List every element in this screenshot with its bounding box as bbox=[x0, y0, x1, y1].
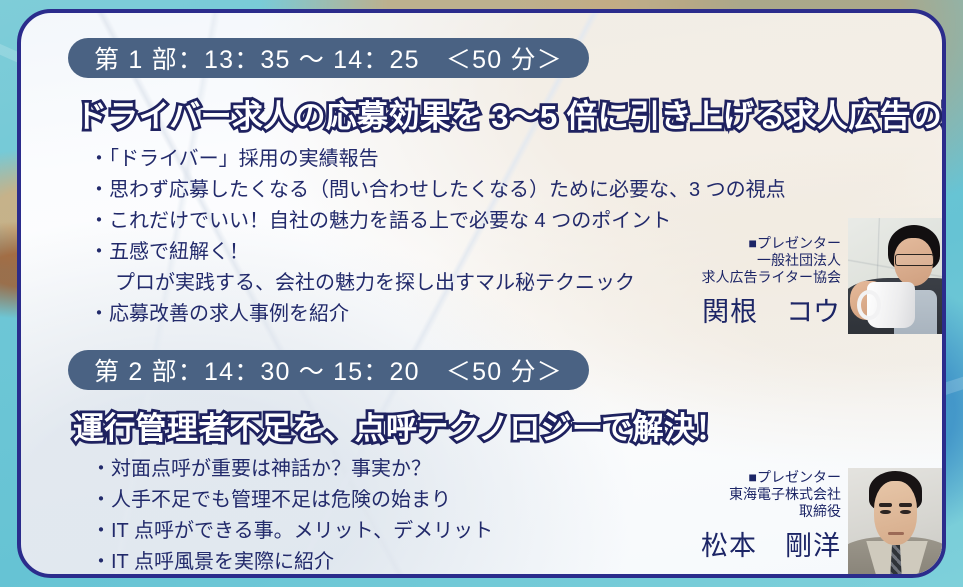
mug-handle-icon bbox=[857, 290, 881, 320]
list-item: ・思わず応募したくなる（問い合わせしたくなる）ために必要な、3 つの視点 bbox=[89, 175, 786, 206]
photo-mouth bbox=[888, 532, 904, 535]
presenter-org-line-1: 一般社団法人 bbox=[661, 252, 841, 269]
session-1-time-badge: 第 1 部：13：35 〜 14：25 ＜50 分＞ bbox=[68, 38, 589, 78]
presenter-role-label: ■プレゼンター bbox=[661, 235, 841, 252]
session-2-presenter: ■プレゼンター 東海電子株式会社 取締役 松本 剛洋 bbox=[661, 469, 841, 562]
session-1-headline: ドライバー求人の応募効果を 3〜5 倍に引き上げる求人広告の改善講座 bbox=[76, 91, 946, 136]
photo-scene bbox=[848, 468, 943, 578]
presenter-org-line-1: 東海電子株式会社 bbox=[661, 486, 841, 503]
session-2-time-badge: 第 2 部：14：30 〜 15：20 ＜50 分＞ bbox=[68, 350, 589, 390]
session-1-presenter: ■プレゼンター 一般社団法人 求人広告ライター協会 関根 コウ bbox=[661, 235, 841, 328]
list-item: ・人手不足でも管理不足は危険の始まり bbox=[91, 485, 493, 516]
card-inner: 第 1 部：13：35 〜 14：25 ＜50 分＞ ドライバー求人の応募効果を… bbox=[21, 13, 942, 574]
presenter-role-label: ■プレゼンター bbox=[661, 469, 841, 486]
photo-eye-right bbox=[900, 510, 910, 514]
presenter-org-line-2: 取締役 bbox=[661, 503, 841, 520]
list-item: ・対面点呼が重要は神話か？事実か？ bbox=[91, 454, 493, 485]
photo-brow-right bbox=[899, 503, 911, 507]
list-item: ・「ドライバー」採用の実績報告 bbox=[89, 144, 786, 175]
session-1-presenter-photo bbox=[848, 218, 946, 334]
glasses-icon bbox=[895, 254, 934, 266]
presenter-name: 松本 剛洋 bbox=[661, 530, 841, 562]
list-item: ・これだけでいい！自社の魅力を語る上で必要な 4 つのポイント bbox=[89, 206, 786, 237]
slide-root: 第 1 部：13：35 〜 14：25 ＜50 分＞ ドライバー求人の応募効果を… bbox=[0, 0, 963, 587]
list-item: ・IT 点呼風景を実際に紹介 bbox=[91, 547, 493, 578]
session-2-presenter-photo bbox=[848, 468, 943, 578]
session-2-headline: 運行管理者不足を、点呼テクノロジーで解決！ bbox=[73, 403, 727, 448]
list-item: ・IT 点呼ができる事。メリット、デメリット bbox=[91, 516, 493, 547]
content-card: 第 1 部：13：35 〜 14：25 ＜50 分＞ ドライバー求人の応募効果を… bbox=[17, 9, 946, 578]
presenter-name: 関根 コウ bbox=[661, 296, 841, 328]
presenter-org-line-2: 求人広告ライター協会 bbox=[661, 269, 841, 286]
photo-brow-left bbox=[879, 503, 891, 507]
session-2-bullet-list: ・対面点呼が重要は神話か？事実か？ ・人手不足でも管理不足は危険の始まり ・IT… bbox=[91, 454, 493, 578]
photo-scene bbox=[848, 218, 946, 334]
photo-eye-left bbox=[880, 510, 890, 514]
